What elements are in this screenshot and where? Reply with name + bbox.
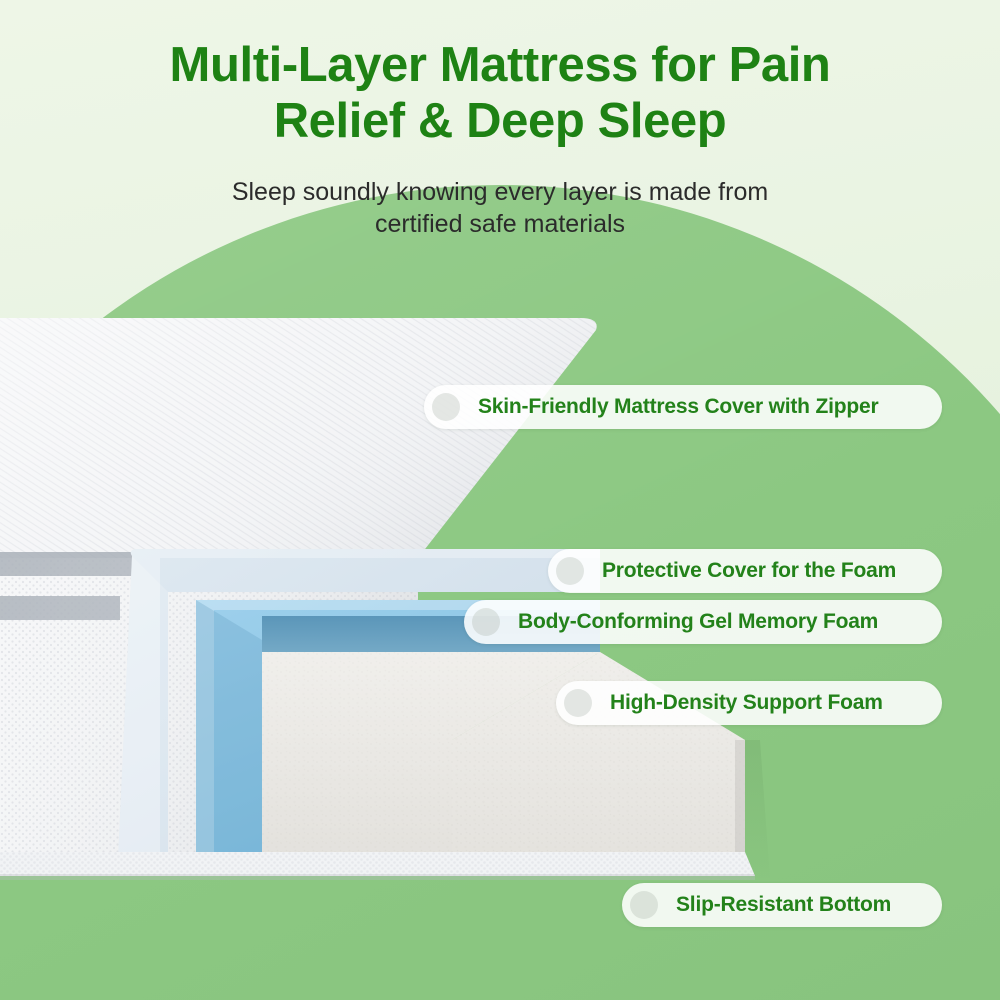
infographic-canvas: Multi-Layer Mattress for Pain Relief & D… (0, 0, 1000, 1000)
support-foam-right-edge (735, 740, 745, 860)
callout-slip-resistant-bottom[interactable]: Slip-Resistant Bottom (622, 883, 942, 927)
gel-foam-left-face (196, 600, 262, 860)
callout-label: Slip-Resistant Bottom (676, 893, 891, 917)
callout-label: Skin-Friendly Mattress Cover with Zipper (478, 395, 878, 419)
bullet-dot-icon (630, 891, 658, 919)
callout-protective-cover[interactable]: Protective Cover for the Foam (548, 549, 942, 593)
bullet-dot-icon (432, 393, 460, 421)
bullet-dot-icon (472, 608, 500, 636)
bullet-dot-icon (564, 689, 592, 717)
top-cover-shading (0, 318, 597, 558)
callout-label: High-Density Support Foam (610, 691, 883, 715)
bullet-dot-icon (556, 557, 584, 585)
callout-support-foam[interactable]: High-Density Support Foam (556, 681, 942, 725)
callout-skin-friendly-cover[interactable]: Skin-Friendly Mattress Cover with Zipper (424, 385, 942, 429)
slip-resistant-base-highlight (0, 852, 755, 876)
page-title: Multi-Layer Mattress for Pain Relief & D… (60, 38, 940, 150)
callout-label: Body-Conforming Gel Memory Foam (518, 610, 878, 634)
slip-resistant-base-shadow (0, 874, 755, 880)
callout-gel-memory-foam[interactable]: Body-Conforming Gel Memory Foam (464, 600, 942, 644)
callout-label: Protective Cover for the Foam (602, 559, 896, 583)
page-subtitle: Sleep soundly knowing every layer is mad… (120, 176, 880, 240)
